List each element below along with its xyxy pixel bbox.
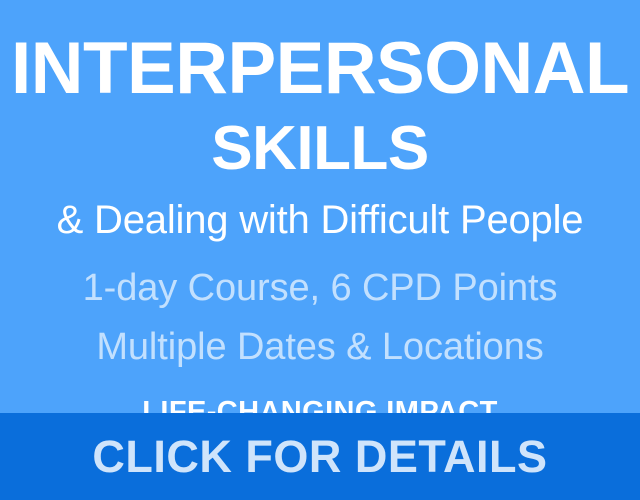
detail-line-course-duration: 1-day Course, 6 CPD Points — [0, 269, 640, 307]
tagline: & Dealing with Difficult People — [0, 200, 640, 240]
banner-copy-block: INTERPERSONAL SKILLS & Dealing with Diff… — [0, 0, 640, 413]
detail-line-dates-locations: Multiple Dates & Locations — [0, 328, 640, 366]
cta-button-label: CLICK FOR DETAILS — [92, 434, 547, 479]
headline-line-2: SKILLS — [0, 118, 640, 180]
headline-line-1: INTERPERSONAL — [0, 32, 640, 105]
cta-button[interactable]: CLICK FOR DETAILS — [0, 413, 640, 500]
advertisement-banner[interactable]: INTERPERSONAL SKILLS & Dealing with Diff… — [0, 0, 640, 500]
